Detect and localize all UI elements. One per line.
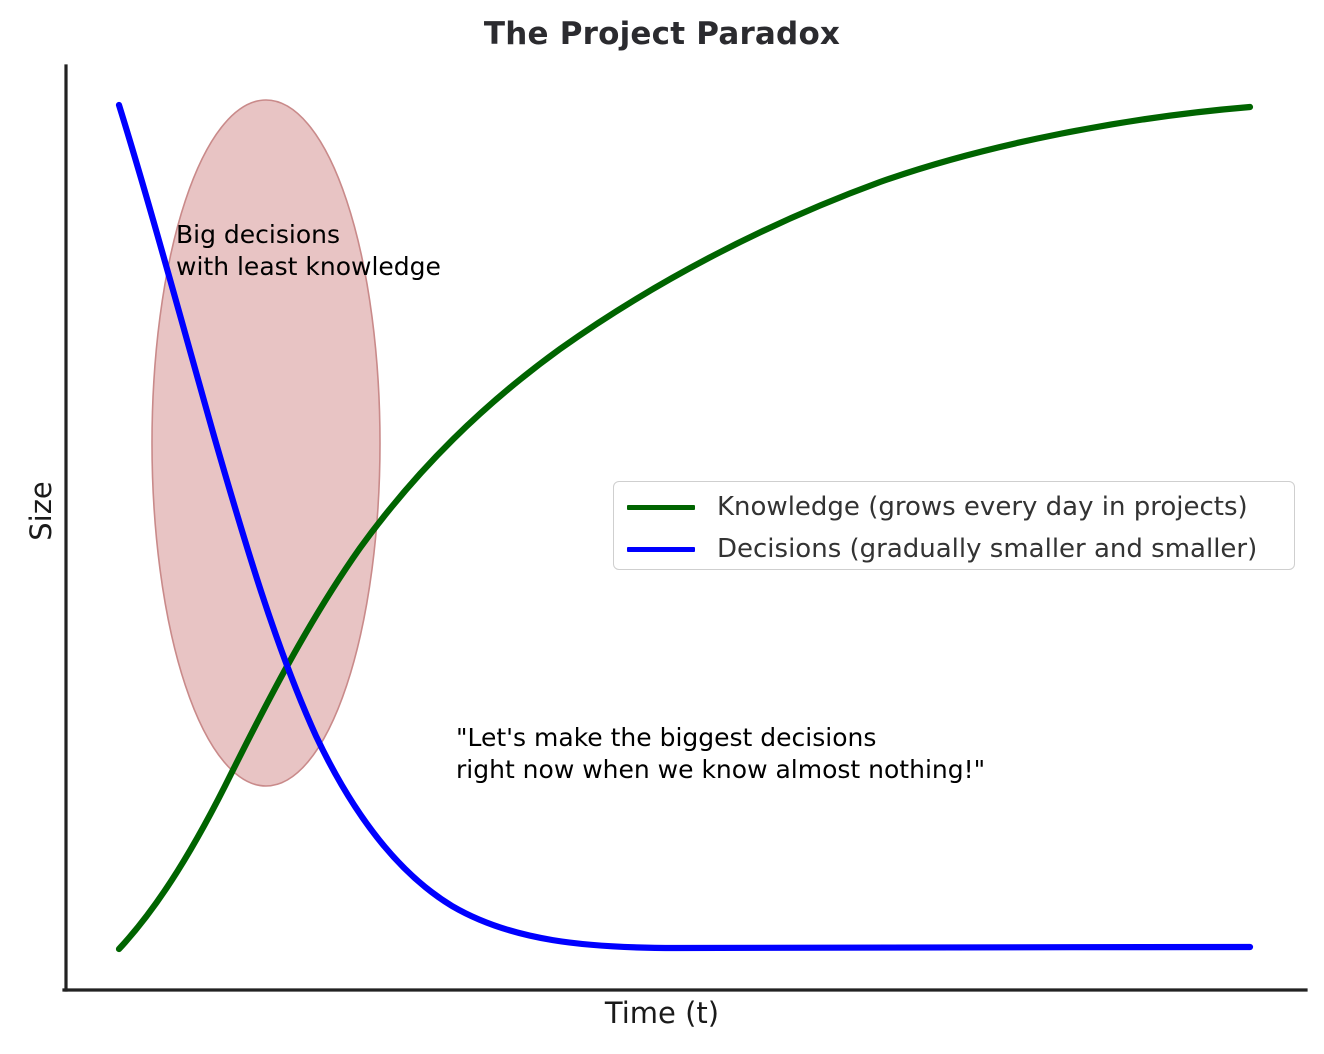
x-axis-label: Time (t) xyxy=(0,996,1324,1030)
legend-swatch-knowledge xyxy=(627,505,695,510)
legend-label-knowledge: Knowledge (grows every day in projects) xyxy=(717,492,1248,522)
y-axis-label: Size xyxy=(24,461,58,561)
legend-item-decisions[interactable]: Decisions (gradually smaller and smaller… xyxy=(627,528,1257,570)
legend-label-decisions: Decisions (gradually smaller and smaller… xyxy=(717,534,1257,564)
legend-item-knowledge[interactable]: Knowledge (grows every day in projects) xyxy=(627,486,1248,528)
annotation-quote: "Let's make the biggest decisions right … xyxy=(456,722,985,786)
chart-legend: Knowledge (grows every day in projects) … xyxy=(613,481,1295,570)
early-project-highlight-ellipse xyxy=(152,100,380,786)
legend-swatch-decisions xyxy=(627,547,695,552)
annotation-big-decisions: Big decisions with least knowledge xyxy=(176,219,441,283)
chart-figure: The Project Paradox Big decisions with l… xyxy=(0,0,1324,1054)
